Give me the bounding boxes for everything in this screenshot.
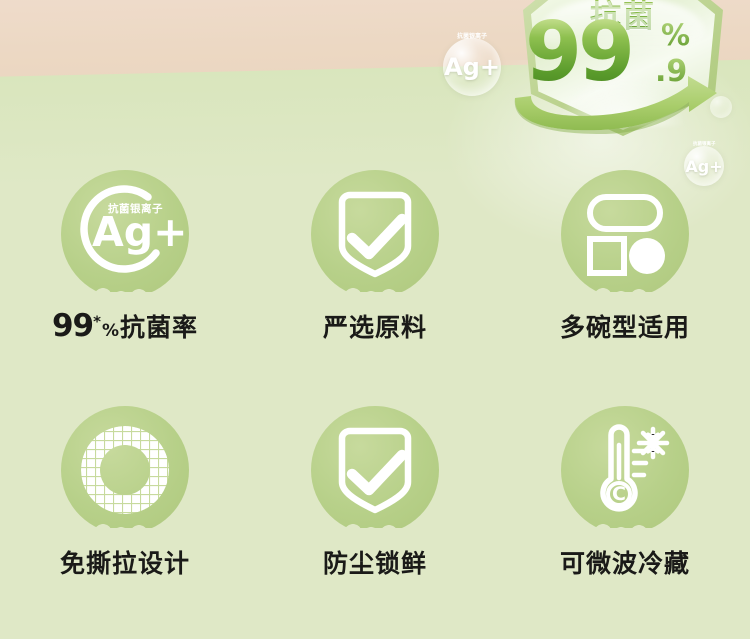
bubble-icon-tiny xyxy=(710,96,732,118)
disc-wavy-cut xyxy=(557,278,693,304)
disc-wavy-cut xyxy=(307,514,443,540)
feature-icon-disc xyxy=(61,406,189,534)
ag-plus-ring-label: Ag+ xyxy=(92,212,187,253)
promo-banner: 抗菌 99 % .9 Ag+ 抗菌银离子 Ag+ 抗菌银离子 抗菌银离子 xyxy=(0,0,750,639)
feature-label-microwave-fridge: 可微波冷藏 xyxy=(560,544,690,580)
feature-row-1: 抗菌银离子 Ag+ 99*%抗菌率 严选原料 xyxy=(0,170,750,344)
shield-check-icon xyxy=(332,424,418,516)
feature-cell-selected-materials: 严选原料 xyxy=(250,170,500,344)
feature-cell-dustproof-fresh: 防尘锁鲜 xyxy=(250,406,500,580)
multi-bowl-shapes-icon xyxy=(581,191,669,277)
feature-cell-multi-bowl: 多碗型适用 xyxy=(500,170,750,344)
feature-icon-disc: C xyxy=(561,406,689,534)
feature-label-multi-bowl: 多碗型适用 xyxy=(560,308,690,344)
feature-label-rest: 抗菌率 xyxy=(120,313,198,342)
feature-label-selected-materials: 严选原料 xyxy=(323,308,427,344)
disc-wavy-cut xyxy=(557,514,693,540)
feature-cell-antibacterial-rate: 抗菌银离子 Ag+ 99*%抗菌率 xyxy=(0,170,250,344)
hero-text-group: 抗菌 99 % .9 xyxy=(523,0,723,138)
feature-grid: 抗菌银离子 Ag+ 99*%抗菌率 严选原料 xyxy=(0,170,750,580)
feature-row-2: 免撕拉设计 防尘锁鲜 C xyxy=(0,406,750,580)
feature-icon-disc xyxy=(311,170,439,298)
thermometer-snowflake-icon: C xyxy=(578,423,672,517)
feature-label-percent: % xyxy=(102,321,120,341)
feature-icon-disc xyxy=(311,406,439,534)
hero-percent-symbol: % xyxy=(661,18,690,52)
feature-label-number: 99 xyxy=(52,308,93,344)
feature-label-asterisk: * xyxy=(93,313,102,331)
feature-icon-disc: 抗菌银离子 Ag+ xyxy=(61,170,189,298)
hero-decimal: .9 xyxy=(655,54,687,89)
feature-label-dustproof-fresh: 防尘锁鲜 xyxy=(323,544,427,580)
ag-plus-bubble-sublabel: 抗菌银离子 xyxy=(693,141,716,147)
row-gap xyxy=(0,344,750,406)
disc-wavy-cut xyxy=(307,278,443,304)
feature-label-no-tear-design: 免撕拉设计 xyxy=(60,544,190,580)
hero-antibacterial-badge: 抗菌 99 % .9 xyxy=(505,0,750,161)
feature-label-antibacterial-rate: 99*%抗菌率 xyxy=(52,308,198,344)
ag-plus-bubble-icon: Ag+ 抗菌银离子 xyxy=(443,38,501,96)
feature-icon-disc xyxy=(561,170,689,298)
ag-plus-bubble-sublabel: 抗菌银离子 xyxy=(457,31,487,40)
feature-cell-microwave-fridge: C xyxy=(500,406,750,580)
shield-check-icon xyxy=(332,188,418,280)
feature-cell-no-tear-design: 免撕拉设计 xyxy=(0,406,250,580)
mesh-ring-icon xyxy=(77,422,173,518)
hero-big-number: 99 xyxy=(525,14,631,92)
ag-plus-bubble-label: Ag+ xyxy=(444,53,500,81)
ag-plus-ring-icon: 抗菌银离子 Ag+ xyxy=(70,179,180,289)
